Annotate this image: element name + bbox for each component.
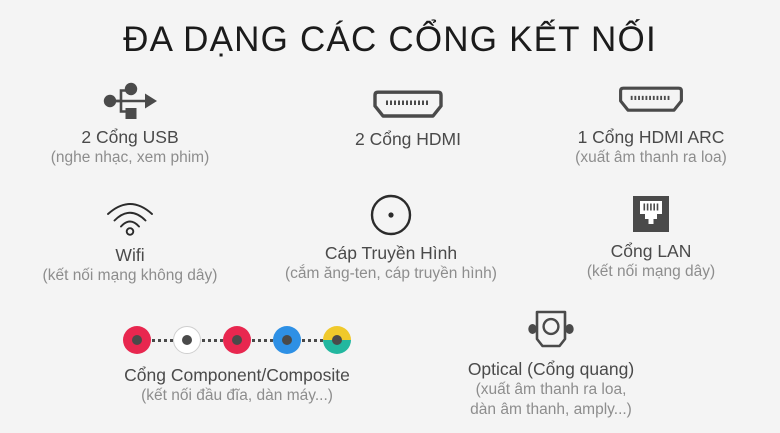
feature-sublabel: (kết nối đầu đĩa, dàn máy...) [72, 386, 402, 406]
rca-dotted-link [151, 338, 173, 342]
rca-dotted-link [201, 338, 223, 342]
rca-dotted-link [251, 338, 273, 342]
feature-label: Wifi [5, 244, 255, 266]
feature-usb: 2 Cổng USB (nghe nhạc, xem phim) [5, 78, 255, 168]
rca-red-2-pin [232, 335, 242, 345]
optical-toslink-port-icon [420, 306, 682, 354]
rca-red-2 [223, 326, 251, 354]
feature-label: 1 Cổng HDMI ARC [527, 126, 775, 148]
rca-red-1-pin [132, 335, 142, 345]
rca-yellow-green [323, 326, 351, 354]
rca-blue [273, 326, 301, 354]
feature-hdmi-arc: 1 Cổng HDMI ARC (xuất âm thanh ra loa) [527, 78, 775, 168]
feature-hdmi: 2 Cổng HDMI [292, 86, 524, 150]
hdmi-arc-port-icon [527, 78, 775, 122]
rca-connectors-icon [72, 320, 402, 360]
rca-yellow-green-pin [332, 335, 342, 345]
rca-blue-pin [282, 335, 292, 345]
rca-white-pin [182, 335, 192, 345]
rca-connector-row [123, 326, 351, 354]
rca-red-1 [123, 326, 151, 354]
infographic-canvas: ĐA DẠNG CÁC CỔNG KẾT NỐI 2 Cổng USB (ngh… [0, 0, 780, 433]
feature-sublabel: (nghe nhạc, xem phim) [5, 148, 255, 168]
feature-sublabel-line2: dàn âm thanh, amply...) [420, 400, 682, 420]
rca-dotted-link [301, 338, 323, 342]
feature-component-composite: Cổng Component/Composite (kết nối đầu đĩ… [72, 320, 402, 406]
page-title: ĐA DẠNG CÁC CỔNG KẾT NỐI [0, 20, 780, 60]
feature-sublabel-line1: (xuất âm thanh ra loa, [420, 380, 682, 400]
usb-icon [5, 78, 255, 122]
feature-label: Cáp Truyền Hình [262, 242, 520, 264]
feature-label: Cổng Component/Composite [72, 364, 402, 386]
hdmi-port-icon [292, 86, 524, 124]
wifi-icon [5, 196, 255, 240]
feature-sublabel: (kết nối mạng dây) [527, 262, 775, 282]
coaxial-port-icon [262, 192, 520, 238]
feature-sublabel: (xuất âm thanh ra loa) [527, 148, 775, 168]
feature-lan: Cổng LAN (kết nối mạng dây) [527, 192, 775, 282]
feature-wifi: Wifi (kết nối mạng không dây) [5, 196, 255, 286]
feature-label: Cổng LAN [527, 240, 775, 262]
feature-label: 2 Cổng USB [5, 126, 255, 148]
feature-optical: Optical (Cổng quang) (xuất âm thanh ra l… [420, 306, 682, 420]
feature-sublabel: (kết nối mạng không dây) [5, 266, 255, 286]
feature-cable-tv: Cáp Truyền Hình (cắm ăng-ten, cáp truyền… [262, 192, 520, 284]
rca-white [173, 326, 201, 354]
feature-label: Optical (Cổng quang) [420, 358, 682, 380]
lan-rj45-port-icon [527, 192, 775, 236]
feature-sublabel: (cắm ăng-ten, cáp truyền hình) [262, 264, 520, 284]
feature-label: 2 Cổng HDMI [292, 128, 524, 150]
